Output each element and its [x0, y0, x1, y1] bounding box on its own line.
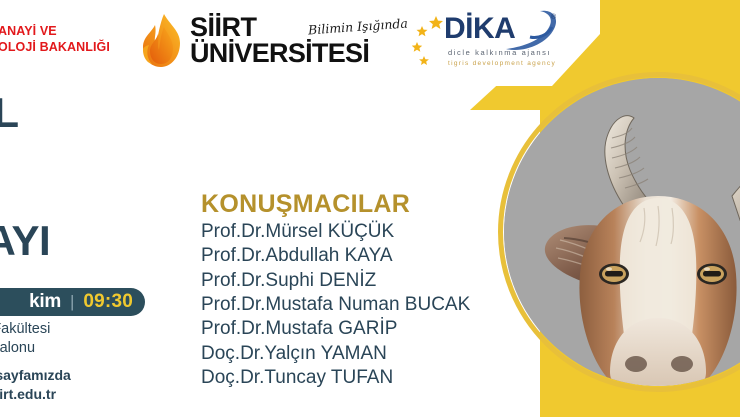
speaker-item: Prof.Dr.Suphi DENİZ: [201, 269, 531, 293]
website-note: lgi web sayfamızda: [0, 366, 71, 385]
headline-line-1: SAL: [0, 92, 196, 134]
badge-separator: |: [70, 292, 74, 312]
dika-registered-mark: ®: [551, 14, 556, 21]
speakers-section: KONUŞMACILAR Prof.Dr.Mürsel KÜÇÜK Prof.D…: [201, 190, 531, 390]
headline-line-3: İ: [0, 177, 196, 219]
speakers-title: KONUŞMACILAR: [201, 190, 531, 219]
poster-canvas: ANAYİ VE OLOJİ BAKANLIĞI SİİRT: [0, 0, 740, 417]
speaker-item: Prof.Dr.Abdullah KAYA: [201, 244, 531, 268]
venue-line-2: ferans salonu: [0, 339, 50, 358]
speaker-item: Prof.Dr.Mustafa Numan BUCAK: [201, 293, 531, 317]
date-time-badge: kim | 09:30: [0, 288, 145, 316]
website-info: lgi web sayfamızda listayi.siirt.edu.tr: [0, 366, 71, 404]
goat-circle-frame: [498, 72, 740, 392]
ministry-logo-text: ANAYİ VE OLOJİ BAKANLIĞI: [0, 24, 110, 55]
speaker-item: Doç.Dr.Yalçın YAMAN: [201, 342, 531, 366]
dika-logo: DİKA ® dicle kalkınma ajansı tigris deve…: [412, 8, 572, 76]
siirt-wordmark: SİİRT ÜNİVERSİTESİ Bilimin Işığında: [190, 15, 369, 66]
venue-line-1: ndislik Fakültesi: [0, 320, 50, 339]
page-title: SAL T İ ŞTAYI: [0, 92, 196, 262]
headline-line-4: ŞTAYI: [0, 220, 196, 262]
ministry-logo: ANAYİ VE OLOJİ BAKANLIĞI: [0, 14, 137, 66]
flame-icon: [140, 13, 184, 69]
ministry-line-1: ANAYİ VE: [0, 24, 110, 40]
speaker-item: Prof.Dr.Mustafa GARİP: [201, 317, 531, 341]
website-url[interactable]: listayi.siirt.edu.tr: [0, 385, 71, 404]
dika-subtitle-en: tigris development agency: [448, 60, 556, 67]
event-date: kim: [29, 291, 61, 313]
speaker-item: Doç.Dr.Tuncay TUFAN: [201, 366, 531, 390]
headline-line-2: T: [0, 135, 196, 177]
ministry-line-2: OLOJİ BAKANLIĞI: [0, 40, 110, 56]
siirt-universitesi-logo: SİİRT ÜNİVERSİTESİ Bilimin Işığında: [140, 6, 380, 76]
speaker-item: Prof.Dr.Mürsel KÜÇÜK: [201, 220, 531, 244]
dika-stars-icon: [412, 14, 446, 66]
siirt-line-2: ÜNİVERSİTESİ: [190, 41, 369, 67]
dika-subtitle-tr: dicle kalkınma ajansı: [448, 48, 551, 57]
event-time: 09:30: [83, 291, 133, 313]
venue-info: ndislik Fakültesi ferans salonu: [0, 320, 50, 357]
